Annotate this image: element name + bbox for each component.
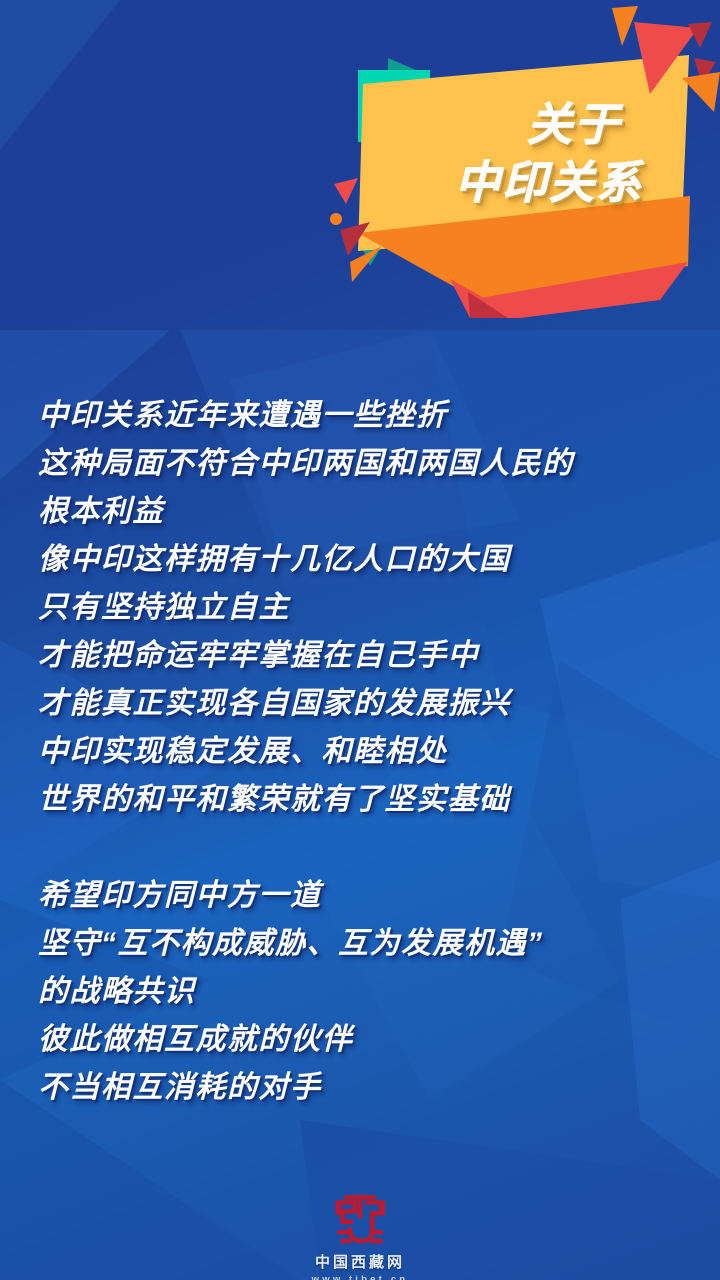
site-name: 中国西藏网 (0, 1251, 720, 1272)
copy-line: 像中印这样拥有十几亿人口的大国 (38, 536, 698, 584)
copy-line: 不当相互消耗的对手 (38, 1064, 698, 1112)
poster-canvas: 关于 中印关系 中印关系近年来遭遇一些挫折 这种局面不符合中印两国和两国人民的 … (0, 0, 720, 1280)
decor-triangle-red-2 (334, 178, 358, 204)
copy-line: 希望印方同中方一道 (38, 872, 698, 920)
header-decoration-art (0, 0, 720, 330)
decor-triangle-orange-1 (612, 6, 638, 46)
paragraph-gap (38, 824, 698, 872)
footer-branding: 中国西藏网 www.tibet.cn (0, 1192, 720, 1280)
site-url: www.tibet.cn (0, 1274, 720, 1280)
decor-dot-orange (330, 213, 342, 225)
copy-line: 坚守“互不构成威胁、互为发展机遇” (38, 920, 698, 968)
copy-line: 只有坚持独立自主 (38, 584, 698, 632)
copy-line: 这种局面不符合中印两国和两国人民的 (38, 440, 698, 488)
decor-triangle-orange-2 (682, 72, 720, 112)
copy-line: 中印关系近年来遭遇一些挫折 (38, 392, 698, 440)
copy-line: 根本利益 (38, 488, 698, 536)
copy-line: 才能真正实现各自国家的发展振兴 (38, 680, 698, 728)
copy-line: 世界的和平和繁荣就有了坚实基础 (38, 776, 698, 824)
copy-line: 才能把命运牢牢掌握在自己手中 (38, 632, 698, 680)
tibet-seal-logo-icon (332, 1192, 388, 1248)
copy-line: 中印实现稳定发展、和睦相处 (38, 728, 698, 776)
copy-line: 彼此做相互成就的伙伴 (38, 1016, 698, 1064)
body-copy: 中印关系近年来遭遇一些挫折 这种局面不符合中印两国和两国人民的 根本利益 像中印… (38, 392, 698, 1112)
copy-line: 的战略共识 (38, 968, 698, 1016)
